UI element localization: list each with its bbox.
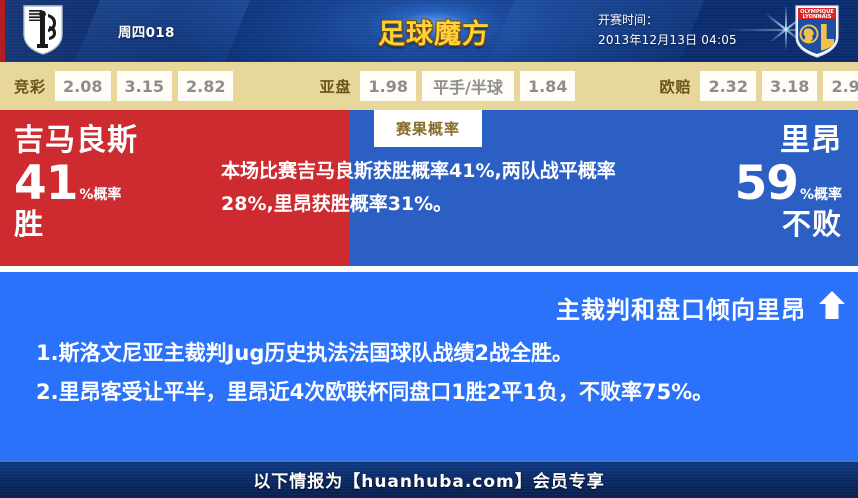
tip-item: 1.斯洛文尼亚主裁判Jug历史执法法国球队战绩2战全胜。 <box>36 334 826 373</box>
odds-group-european: 欧赔 2.32 3.18 2.95 <box>659 71 858 101</box>
match-round-label: 周四018 <box>118 21 175 41</box>
odds-group-asian-handicap: 亚盘 1.98 平手/半球 1.84 <box>319 71 581 101</box>
tips-headline: 主裁判和盘口倾向里昂 <box>556 290 806 325</box>
odds-bar: 竞彩 2.08 3.15 2.82 亚盘 1.98 平手/半球 1.84 欧赔 … <box>0 62 858 110</box>
away-team-block: 里昂 59%概率 不败 <box>735 126 842 239</box>
away-probability-number: 59 <box>735 156 798 211</box>
away-probability-value-line: 59%概率 <box>735 160 842 207</box>
footer-divider <box>0 460 858 462</box>
odds-cell-draw[interactable]: 3.15 <box>117 71 172 101</box>
away-result-label: 不败 <box>735 210 842 239</box>
odds-group-label: 竞彩 <box>14 76 46 97</box>
odds-cell-away[interactable]: 2.95 <box>823 71 858 101</box>
tips-section: 主裁判和盘口倾向里昂 1.斯洛文尼亚主裁判Jug历史执法法国球队战绩2战全胜。 … <box>0 272 858 460</box>
away-probability-unit: %概率 <box>800 187 842 203</box>
odds-cell-home[interactable]: 2.08 <box>55 71 110 101</box>
home-team-block: 吉马良斯 41%概率 胜 <box>14 126 138 239</box>
match-header: 周四018 足球魔方 开赛时间： 2013年12月13日 04:05 OLYMP… <box>0 0 858 62</box>
vitoria-guimaraes-crest <box>22 4 64 56</box>
kickoff-time-block: 开赛时间： 2013年12月13日 04:05 <box>598 10 737 50</box>
kickoff-label: 开赛时间： <box>598 10 737 30</box>
kickoff-value: 2013年12月13日 04:05 <box>598 30 737 50</box>
odds-group-jingcai: 竞彩 2.08 3.15 2.82 <box>14 71 239 101</box>
odds-group-label: 亚盘 <box>319 76 351 97</box>
odds-cell-away[interactable]: 2.82 <box>178 71 233 101</box>
away-team-name: 里昂 <box>735 126 842 156</box>
up-arrow-icon <box>818 290 846 320</box>
olympique-lyonnais-crest: OLYMPIQUE LYONNAIS <box>793 3 841 59</box>
tab-result-probability[interactable]: 赛果概率 <box>374 110 482 147</box>
home-probability-unit: %概率 <box>79 187 121 203</box>
odds-cell-home[interactable]: 2.32 <box>700 71 755 101</box>
tips-list: 1.斯洛文尼亚主裁判Jug历史执法法国球队战绩2战全胜。 2.里昂客受让平半，里… <box>36 334 826 412</box>
home-probability-number: 41 <box>14 156 77 211</box>
odds-cell-handicap[interactable]: 平手/半球 <box>422 71 514 101</box>
odds-group-label: 欧赔 <box>659 76 691 97</box>
home-team-name: 吉马良斯 <box>14 126 138 156</box>
odds-cell-away[interactable]: 1.84 <box>520 71 575 101</box>
tip-item: 2.里昂客受让平半，里昂近4次欧联杯同盘口1胜2平1负，不败率75%。 <box>36 373 826 412</box>
home-probability-value-line: 41%概率 <box>14 160 138 207</box>
odds-cell-home[interactable]: 1.98 <box>360 71 415 101</box>
home-result-label: 胜 <box>14 210 138 239</box>
header-red-edge <box>0 0 5 62</box>
page-root: 周四018 足球魔方 开赛时间： 2013年12月13日 04:05 OLYMP… <box>0 0 858 498</box>
probability-description: 本场比赛吉马良斯获胜概率41%,两队战平概率28%,里昂获胜概率31%。 <box>221 155 641 221</box>
odds-cell-draw[interactable]: 3.18 <box>762 71 817 101</box>
brand-logo: 足球魔方 <box>368 12 500 50</box>
footer-banner: 以下情报为【huanhuba.com】会员专享 <box>0 460 858 498</box>
footer-text: 以下情报为【huanhuba.com】会员专享 <box>253 467 605 492</box>
